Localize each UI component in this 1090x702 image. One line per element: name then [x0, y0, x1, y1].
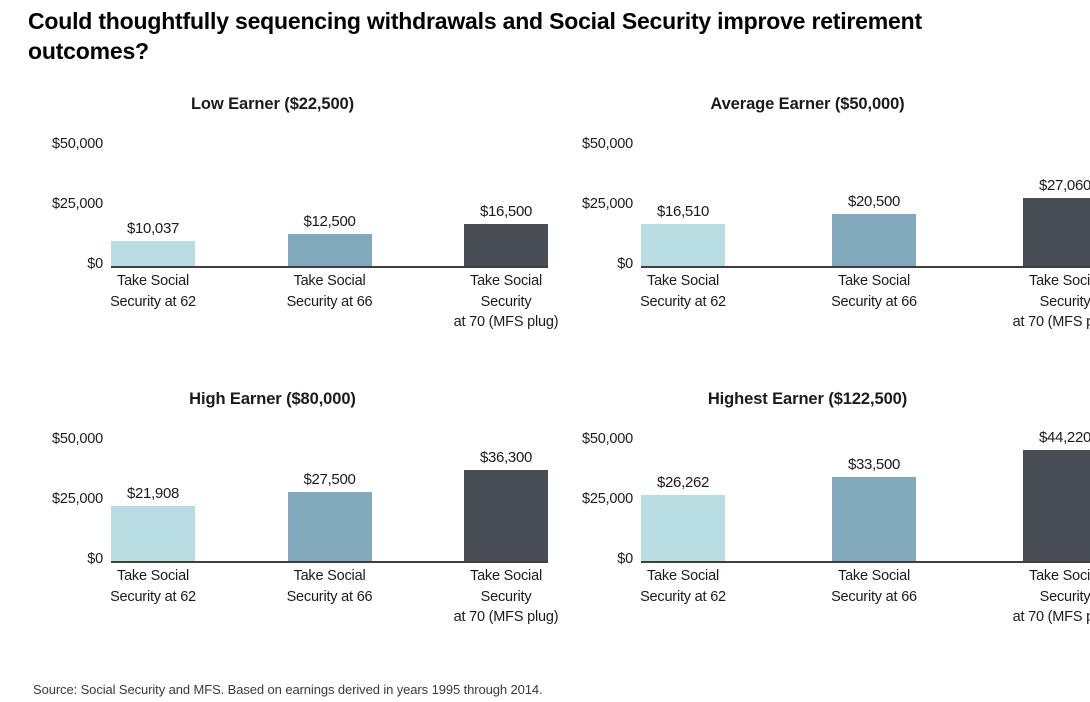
x-axis-labels: Take SocialSecurity at 62Take SocialSecu…	[111, 271, 548, 333]
x-axis-labels: Take SocialSecurity at 62Take SocialSecu…	[641, 566, 1090, 628]
bar[interactable]	[464, 224, 548, 266]
bar-column[interactable]: $12,500	[288, 140, 372, 266]
chart-panel: High Earner ($80,000)$50,000$25,000$0$21…	[0, 390, 545, 680]
bar-group: $26,262$33,500$44,220	[641, 435, 1090, 561]
x-axis-tick-label: Take SocialSecurity at 66	[260, 566, 400, 628]
x-axis-tick-label-line: Take Social	[613, 566, 753, 587]
bar-column[interactable]: $27,500	[288, 435, 372, 561]
bar[interactable]	[288, 492, 372, 561]
x-axis-tick-label-line: Security	[995, 587, 1090, 608]
bar[interactable]	[832, 214, 916, 266]
panel-title: Low Earner ($22,500)	[0, 95, 545, 114]
x-axis-tick-label-line: Security at 62	[613, 587, 753, 608]
panel-title: High Earner ($80,000)	[0, 390, 545, 409]
x-axis-tick-label-line: Take Social	[260, 271, 400, 292]
chart-panel: Highest Earner ($122,500)$50,000$25,000$…	[545, 390, 1090, 680]
y-axis-tick-label: $0	[547, 551, 633, 567]
bar-value-label: $16,510	[613, 203, 753, 220]
bar[interactable]	[641, 224, 725, 266]
y-axis-tick-label: $0	[17, 551, 103, 567]
x-axis-labels: Take SocialSecurity at 62Take SocialSecu…	[111, 566, 548, 628]
bar-group: $16,510$20,500$27,060	[641, 140, 1090, 266]
bar[interactable]	[832, 477, 916, 561]
panel-title: Highest Earner ($122,500)	[545, 390, 1070, 409]
x-axis-tick-label: Take SocialSecurity at 62	[83, 271, 223, 333]
y-axis-tick-label: $50,000	[547, 136, 633, 152]
x-axis-tick-label-line: Security at 66	[260, 292, 400, 313]
x-axis-line	[111, 266, 548, 268]
y-axis-tick-label: $0	[17, 256, 103, 272]
bar-value-label: $27,060	[995, 177, 1090, 194]
y-axis-tick-label: $0	[547, 256, 633, 272]
x-axis-tick-label-line: Take Social	[260, 566, 400, 587]
bar-value-label: $12,500	[260, 213, 400, 230]
bar-value-label: $26,262	[613, 474, 753, 491]
source-note: Source: Social Security and MFS. Based o…	[33, 682, 543, 697]
bar-column[interactable]: $44,220	[1023, 435, 1090, 561]
page-title: Could thoughtfully sequencing withdrawal…	[28, 6, 1038, 67]
x-axis-line	[641, 561, 1090, 563]
x-axis-tick-label-line: Security at 66	[260, 587, 400, 608]
x-axis-tick-label-line: Security at 62	[83, 587, 223, 608]
x-axis-line	[641, 266, 1090, 268]
bar[interactable]	[111, 506, 195, 561]
bar[interactable]	[1023, 198, 1090, 266]
x-axis-tick-label-line: Security at 66	[804, 292, 944, 313]
plot-area: $10,037$12,500$16,500	[111, 140, 548, 266]
x-axis-tick-label-line: Security	[995, 292, 1090, 313]
bar[interactable]	[1023, 450, 1090, 561]
x-axis-tick-label-line: at 70 (MFS plug)	[995, 607, 1090, 628]
bar-value-label: $33,500	[804, 456, 944, 473]
chart-panel: Average Earner ($50,000)$50,000$25,000$0…	[545, 95, 1090, 385]
bar-column[interactable]: $16,500	[464, 140, 548, 266]
x-axis-tick-label: Take SocialSecurityat 70 (MFS plug)	[995, 271, 1090, 333]
y-axis-tick-label: $50,000	[547, 431, 633, 447]
bar-column[interactable]: $36,300	[464, 435, 548, 561]
plot-area: $16,510$20,500$27,060	[641, 140, 1090, 266]
x-axis-tick-label-line: Take Social	[83, 566, 223, 587]
bar[interactable]	[111, 241, 195, 266]
bar-column[interactable]: $33,500	[832, 435, 916, 561]
bar-value-label: $10,037	[83, 220, 223, 237]
x-axis-tick-label-line: at 70 (MFS plug)	[995, 312, 1090, 333]
x-axis-line	[111, 561, 548, 563]
chart-panel: Low Earner ($22,500)$50,000$25,000$0$10,…	[0, 95, 545, 385]
x-axis-tick-label-line: Security at 62	[83, 292, 223, 313]
bar-value-label: $20,500	[804, 193, 944, 210]
bar-group: $21,908$27,500$36,300	[111, 435, 548, 561]
bar-column[interactable]: $21,908	[111, 435, 195, 561]
bar[interactable]	[641, 495, 725, 561]
bar-value-label: $27,500	[260, 471, 400, 488]
y-axis-tick-label: $25,000	[547, 491, 633, 507]
bar[interactable]	[288, 234, 372, 266]
bar-column[interactable]: $27,060	[1023, 140, 1090, 266]
x-axis-tick-label-line: Take Social	[613, 271, 753, 292]
x-axis-tick-label: Take SocialSecurity at 66	[804, 271, 944, 333]
bar-column[interactable]: $20,500	[832, 140, 916, 266]
x-axis-tick-label-line: Take Social	[995, 566, 1090, 587]
bar-column[interactable]: $26,262	[641, 435, 725, 561]
bar-column[interactable]: $16,510	[641, 140, 725, 266]
bar-value-label: $44,220	[995, 429, 1090, 446]
x-axis-tick-label-line: Take Social	[804, 271, 944, 292]
x-axis-tick-label-line: Take Social	[995, 271, 1090, 292]
bar-column[interactable]: $10,037	[111, 140, 195, 266]
x-axis-tick-label-line: Security at 66	[804, 587, 944, 608]
y-axis-tick-label: $25,000	[17, 196, 103, 212]
plot-area: $26,262$33,500$44,220	[641, 435, 1090, 561]
y-axis-tick-label: $50,000	[17, 136, 103, 152]
panel-title: Average Earner ($50,000)	[545, 95, 1070, 114]
bar[interactable]	[464, 470, 548, 561]
x-axis-tick-label: Take SocialSecurity at 62	[613, 271, 753, 333]
x-axis-tick-label-line: Take Social	[804, 566, 944, 587]
x-axis-tick-label: Take SocialSecurity at 62	[83, 566, 223, 628]
x-axis-tick-label: Take SocialSecurity at 66	[260, 271, 400, 333]
x-axis-tick-label-line: Security at 62	[613, 292, 753, 313]
x-axis-tick-label-line: Take Social	[83, 271, 223, 292]
x-axis-tick-label: Take SocialSecurity at 62	[613, 566, 753, 628]
plot-area: $21,908$27,500$36,300	[111, 435, 548, 561]
bar-group: $10,037$12,500$16,500	[111, 140, 548, 266]
bar-value-label: $21,908	[83, 485, 223, 502]
y-axis-tick-label: $50,000	[17, 431, 103, 447]
x-axis-labels: Take SocialSecurity at 62Take SocialSecu…	[641, 271, 1090, 333]
x-axis-tick-label: Take SocialSecurityat 70 (MFS plug)	[995, 566, 1090, 628]
x-axis-tick-label: Take SocialSecurity at 66	[804, 566, 944, 628]
